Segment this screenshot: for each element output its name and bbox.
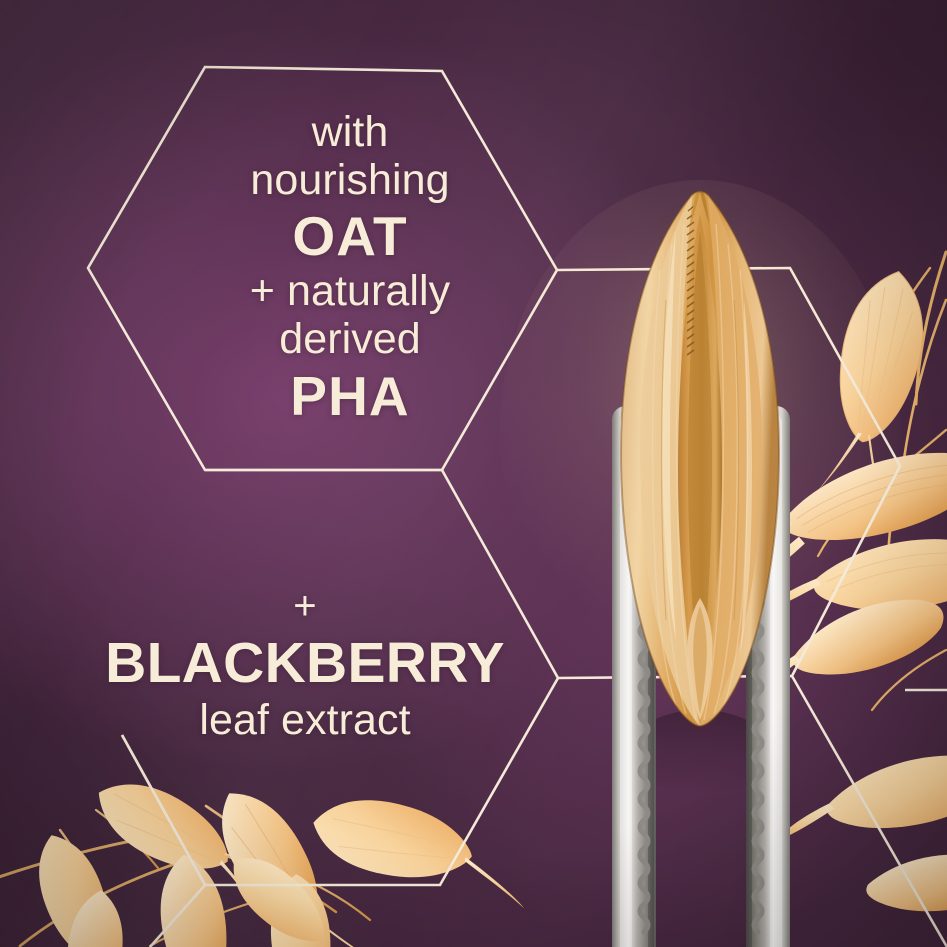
- ingredient-callout-oat-pha: with nourishing OAT + naturally derived …: [150, 110, 550, 425]
- callout-line-naturally: + naturally: [150, 269, 550, 315]
- callout-line-derived: derived: [150, 317, 550, 363]
- callout-line-leaf-extract: leaf extract: [70, 698, 540, 744]
- callout-line-blackberry: BLACKBERRY: [70, 633, 540, 693]
- callout-line-with: with: [150, 110, 550, 156]
- callout-line-nourishing: nourishing: [150, 158, 550, 204]
- callout-plus-sign: +: [70, 585, 540, 627]
- ingredient-callout-blackberry: + BLACKBERRY leaf extract: [70, 585, 540, 743]
- callout-line-pha: PHA: [150, 367, 550, 425]
- product-ingredient-graphic: with nourishing OAT + naturally derived …: [0, 0, 947, 947]
- callout-line-oat: OAT: [150, 207, 550, 265]
